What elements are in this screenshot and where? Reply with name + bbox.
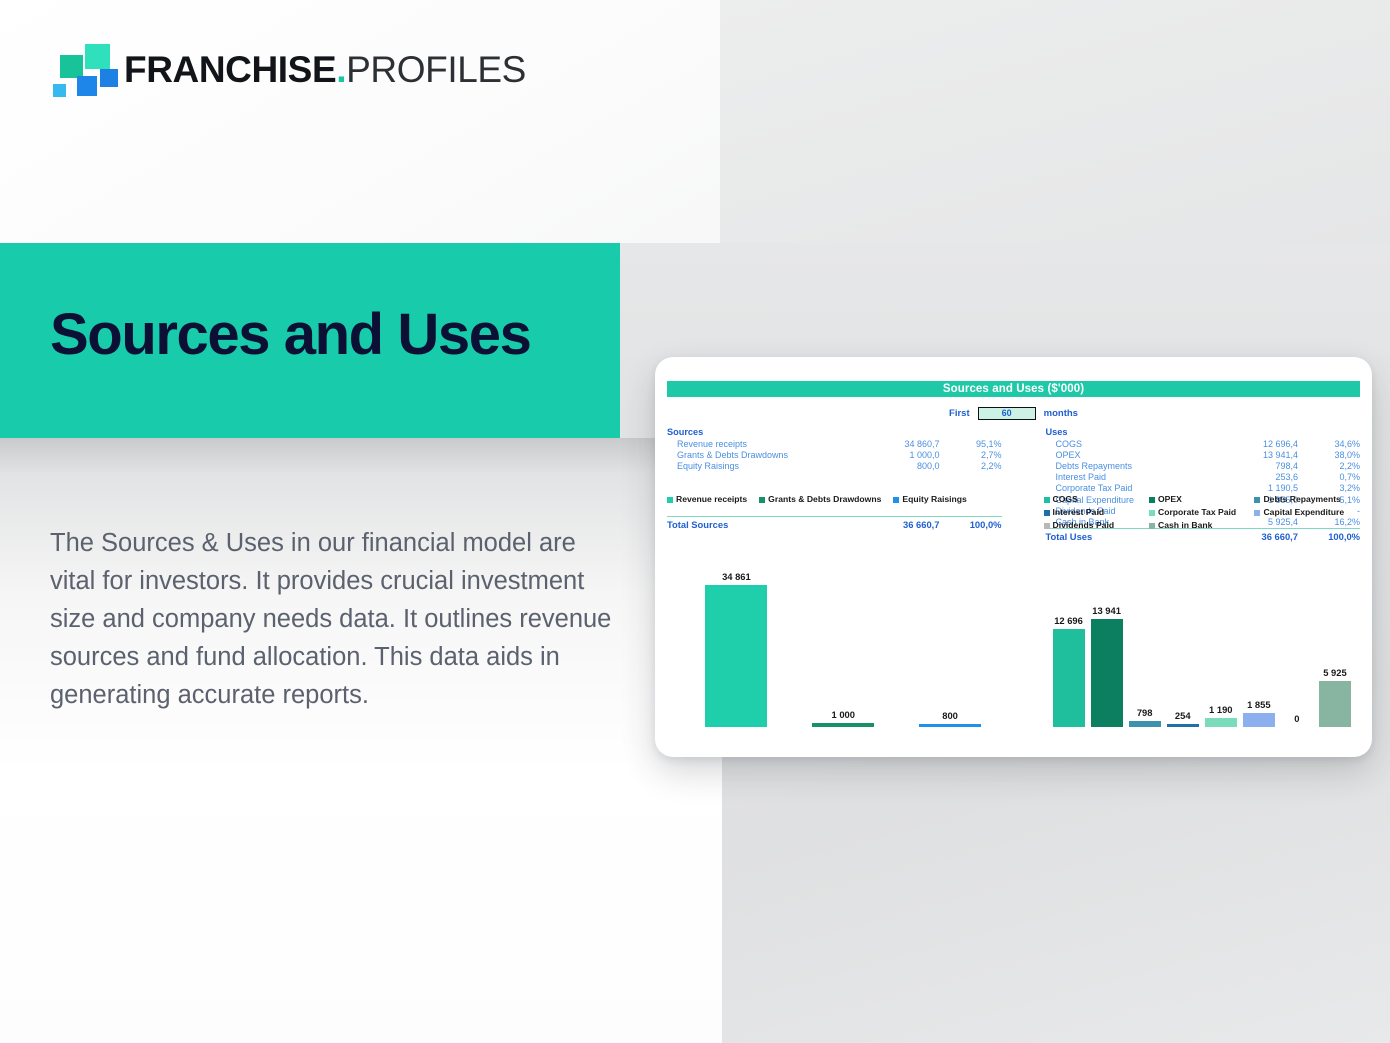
bar-column[interactable]: 0 xyxy=(1281,539,1313,727)
legend-label: Cash in Bank xyxy=(1158,519,1212,532)
row-percent: 2,7% xyxy=(940,449,1002,460)
uses-chart-legend: COGSOPEXDebts RepaymentsInterest PaidCor… xyxy=(1014,493,1361,532)
table-row: COGS 12 696,4 34,6% xyxy=(1046,438,1361,449)
legend-item[interactable]: Corporate Tax Paid xyxy=(1149,506,1254,519)
legend-label: Debts Repayments xyxy=(1263,493,1340,506)
bar-value-label: 13 941 xyxy=(1092,606,1121,616)
row-percent: 0,7% xyxy=(1298,472,1360,483)
bar-column[interactable]: 254 xyxy=(1167,539,1199,727)
table-row: Interest Paid 253,6 0,7% xyxy=(1046,472,1361,483)
legend-swatch-icon xyxy=(1044,497,1050,503)
body-paragraph: The Sources & Uses in our financial mode… xyxy=(50,524,620,714)
row-value: 13 941,4 xyxy=(1216,449,1298,460)
sources-chart-legend: Revenue receiptsGrants & Debts Drawdowns… xyxy=(667,493,1014,532)
legend-item[interactable]: Debts Repayments xyxy=(1254,493,1359,506)
legend-swatch-icon xyxy=(1254,510,1260,516)
legend-label: Dividends Paid xyxy=(1053,519,1115,532)
legend-item[interactable]: Interest Paid xyxy=(1044,506,1149,519)
legend-label: Grants & Debts Drawdowns xyxy=(768,493,881,506)
logo-mark-icon xyxy=(48,42,110,96)
bar-column[interactable]: 5 925 xyxy=(1319,539,1351,727)
legend-swatch-icon xyxy=(759,497,765,503)
legends-area: Revenue receiptsGrants & Debts Drawdowns… xyxy=(667,493,1360,532)
bar-value-label: 1 855 xyxy=(1247,700,1270,710)
bar-column[interactable]: 34 861 xyxy=(705,539,767,727)
bar-column[interactable]: 798 xyxy=(1129,539,1161,727)
bar-value-label: 34 861 xyxy=(722,572,751,582)
table-row: Equity Raisings 800,0 2,2% xyxy=(667,460,1002,471)
legend-item[interactable]: Capital Expenditure xyxy=(1254,506,1359,519)
brand-logo[interactable]: FRANCHISE.PROFILES xyxy=(48,42,526,96)
row-value: 798,4 xyxy=(1216,460,1298,471)
legend-item[interactable]: Cash in Bank xyxy=(1149,519,1254,532)
bar[interactable] xyxy=(919,724,981,727)
bar-value-label: 5 925 xyxy=(1323,668,1346,678)
logo-dot: . xyxy=(336,49,346,90)
bar-value-label: 800 xyxy=(942,711,958,721)
bar-column[interactable]: 1 000 xyxy=(812,539,874,727)
legend-swatch-icon xyxy=(667,497,673,503)
bar-column[interactable]: 13 941 xyxy=(1091,539,1123,727)
months-suffix-label: months xyxy=(1044,408,1078,419)
legend-swatch-icon xyxy=(1149,510,1155,516)
legend-swatch-icon xyxy=(1044,510,1050,516)
bar-value-label: 1 000 xyxy=(832,710,855,720)
bar-value-label: 12 696 xyxy=(1054,616,1083,626)
bar-column[interactable]: 1 855 xyxy=(1243,539,1275,727)
uses-bar-chart: 12 69613 9417982541 1901 85505 925 xyxy=(1014,539,1361,735)
row-label: Grants & Debts Drawdowns xyxy=(667,449,858,460)
logo-word-secondary: PROFILES xyxy=(346,49,526,90)
months-prefix-label: First xyxy=(949,408,970,419)
row-label: Revenue receipts xyxy=(667,438,858,449)
bar[interactable] xyxy=(1129,721,1161,727)
row-value: 253,6 xyxy=(1216,472,1298,483)
row-percent: 95,1% xyxy=(940,438,1002,449)
logo-word-primary: FRANCHISE xyxy=(124,49,336,90)
sheet: Sources and Uses ($'000) First 60 months… xyxy=(667,381,1360,747)
table-spacer xyxy=(667,481,1002,490)
legend-item[interactable]: OPEX xyxy=(1149,493,1254,506)
legend-label: Corporate Tax Paid xyxy=(1158,506,1236,519)
charts-area: 34 8611 000800 12 69613 9417982541 1901 … xyxy=(667,539,1360,735)
legend-swatch-icon xyxy=(1149,523,1155,529)
legend-swatch-icon xyxy=(1149,497,1155,503)
bar-value-label: 798 xyxy=(1137,708,1153,718)
sources-table-header: Sources xyxy=(667,427,1002,437)
row-label: OPEX xyxy=(1046,449,1217,460)
legend-label: OPEX xyxy=(1158,493,1182,506)
uses-table-header: Uses xyxy=(1046,427,1361,437)
bar[interactable] xyxy=(1243,713,1275,727)
row-percent: 34,6% xyxy=(1298,438,1360,449)
bar[interactable] xyxy=(1319,681,1351,727)
months-input[interactable]: 60 xyxy=(978,407,1036,420)
legend-item[interactable]: Grants & Debts Drawdowns xyxy=(759,493,881,506)
months-control-row: First 60 months xyxy=(667,407,1360,420)
bar-column[interactable]: 1 190 xyxy=(1205,539,1237,727)
row-value: 12 696,4 xyxy=(1216,438,1298,449)
row-label: Equity Raisings xyxy=(667,460,858,471)
row-label: Debts Repayments xyxy=(1046,460,1217,471)
bar[interactable] xyxy=(1205,718,1237,727)
row-value: 34 860,7 xyxy=(858,438,940,449)
logo-wordmark: FRANCHISE.PROFILES xyxy=(124,51,526,88)
bar-value-label: 1 190 xyxy=(1209,705,1232,715)
legend-item[interactable]: Equity Raisings xyxy=(893,493,966,506)
bar[interactable] xyxy=(1091,619,1123,727)
legend-label: Capital Expenditure xyxy=(1263,506,1344,519)
legend-item[interactable]: Revenue receipts xyxy=(667,493,747,506)
bar-column[interactable]: 800 xyxy=(919,539,981,727)
legend-item[interactable]: COGS xyxy=(1044,493,1149,506)
legend-label: COGS xyxy=(1053,493,1078,506)
row-percent: 2,2% xyxy=(940,460,1002,471)
bar[interactable] xyxy=(812,723,874,727)
legend-swatch-icon xyxy=(1044,523,1050,529)
slide-root: FRANCHISE.PROFILES Sources and Uses The … xyxy=(0,0,1390,1043)
row-label: COGS xyxy=(1046,438,1217,449)
legend-swatch-icon xyxy=(1254,497,1260,503)
bar-value-label: 0 xyxy=(1294,714,1299,724)
table-row: Debts Repayments 798,4 2,2% xyxy=(1046,460,1361,471)
bar-column[interactable]: 12 696 xyxy=(1053,539,1085,727)
bar[interactable] xyxy=(705,585,767,727)
bar[interactable] xyxy=(1053,629,1085,727)
row-value: 800,0 xyxy=(858,460,940,471)
legend-label: Revenue receipts xyxy=(676,493,747,506)
legend-label: Equity Raisings xyxy=(902,493,966,506)
bar-value-label: 254 xyxy=(1175,711,1191,721)
page-title: Sources and Uses xyxy=(50,305,530,366)
table-row: OPEX 13 941,4 38,0% xyxy=(1046,449,1361,460)
row-percent: 2,2% xyxy=(1298,460,1360,471)
row-value: 1 000,0 xyxy=(858,449,940,460)
sources-bar-chart: 34 8611 000800 xyxy=(667,539,1014,735)
sheet-title-bar: Sources and Uses ($'000) xyxy=(667,381,1360,397)
bar[interactable] xyxy=(1167,724,1199,727)
table-row: Revenue receipts 34 860,7 95,1% xyxy=(667,438,1002,449)
table-row: Grants & Debts Drawdowns 1 000,0 2,7% xyxy=(667,449,1002,460)
legend-label: Interest Paid xyxy=(1053,506,1105,519)
legend-item[interactable]: Dividends Paid xyxy=(1044,519,1149,532)
spreadsheet-card: Sources and Uses ($'000) First 60 months… xyxy=(655,357,1372,757)
table-spacer xyxy=(667,472,1002,481)
row-percent: 38,0% xyxy=(1298,449,1360,460)
row-label: Interest Paid xyxy=(1046,472,1217,483)
legend-swatch-icon xyxy=(893,497,899,503)
